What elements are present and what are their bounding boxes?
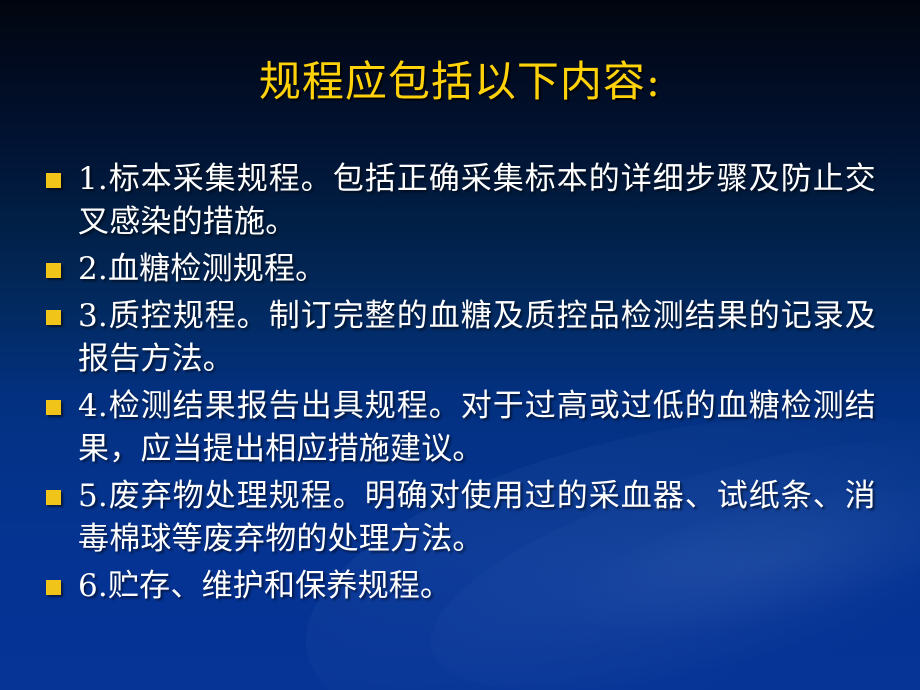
list-item-text: 6.贮存、维护和保养规程。 <box>78 565 876 608</box>
square-bullet-icon <box>46 400 61 415</box>
list-item-text: 5.废弃物处理规程。明确对使用过的采血器、试纸条、消毒棉球等废弃物的处理方法。 <box>78 475 876 561</box>
square-bullet-icon <box>46 263 61 278</box>
list-item: 2.血糖检测规程。 <box>46 248 876 291</box>
square-bullet-icon <box>46 173 61 188</box>
list-item: 3.质控规程。制订完整的血糖及质控品检测结果的记录及报告方法。 <box>46 295 876 381</box>
list-item: 5.废弃物处理规程。明确对使用过的采血器、试纸条、消毒棉球等废弃物的处理方法。 <box>46 475 876 561</box>
slide-title: 规程应包括以下内容: <box>0 56 920 108</box>
list-item: 6.贮存、维护和保养规程。 <box>46 565 876 608</box>
square-bullet-icon <box>46 490 61 505</box>
square-bullet-icon <box>46 310 61 325</box>
list-item: 1.标本采集规程。包括正确采集标本的详细步骤及防止交叉感染的措施。 <box>46 158 876 244</box>
list-item-text: 2.血糖检测规程。 <box>78 248 876 291</box>
square-bullet-icon <box>46 580 61 595</box>
presentation-slide: 规程应包括以下内容: 1.标本采集规程。包括正确采集标本的详细步骤及防止交叉感染… <box>0 0 920 690</box>
list-item-text: 4.检测结果报告出具规程。对于过高或过低的血糖检测结果，应当提出相应措施建议。 <box>78 385 876 471</box>
list-item-text: 1.标本采集规程。包括正确采集标本的详细步骤及防止交叉感染的措施。 <box>78 158 876 244</box>
list-item: 4.检测结果报告出具规程。对于过高或过低的血糖检测结果，应当提出相应措施建议。 <box>46 385 876 471</box>
list-item-text: 3.质控规程。制订完整的血糖及质控品检测结果的记录及报告方法。 <box>78 295 876 381</box>
bullet-list: 1.标本采集规程。包括正确采集标本的详细步骤及防止交叉感染的措施。 2.血糖检测… <box>46 158 876 612</box>
